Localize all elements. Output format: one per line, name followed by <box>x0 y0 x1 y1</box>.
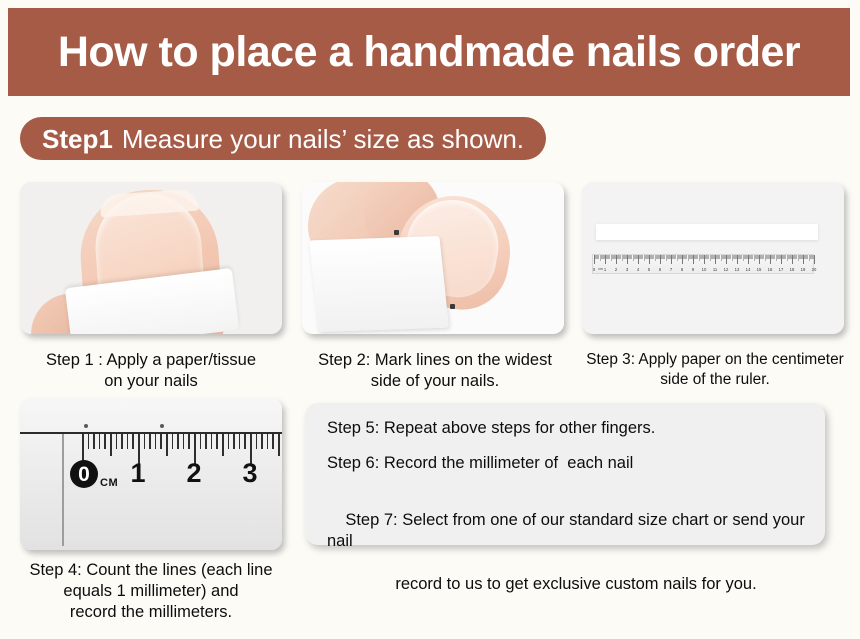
ruler-unit-label: cm <box>598 268 603 272</box>
caption-step-2-line-1: Step 2: Mark lines on the widest <box>296 350 574 371</box>
photo-card-mark-lines <box>302 182 564 334</box>
paper-on-ruler-image: 01234567891011121314151617181920cm <box>582 182 844 334</box>
caption-step-3-line-1: Step 3: Apply paper on the centimeter <box>576 350 854 370</box>
ruler-dot-left <box>84 424 88 428</box>
ruler-mm-tick <box>104 434 106 449</box>
ruler-number-2: 2 <box>615 268 617 272</box>
ruler-left-edge <box>62 434 64 546</box>
ruler-number-10: 10 <box>702 268 707 272</box>
ruler-mm-tick <box>200 434 202 449</box>
ruler-number-3: 3 <box>626 268 628 272</box>
step-7-line-2: record to us to get exclusive custom nai… <box>327 574 807 595</box>
ruler-mm-tick <box>177 434 179 449</box>
step1-pill-strong: Step1 <box>42 126 113 152</box>
caption-step-1: Step 1 : Apply a paper/tissue on your na… <box>12 350 290 392</box>
mark-point-bottom <box>450 304 455 309</box>
ruler-unit-label: CM <box>100 478 118 489</box>
paper-strip-shape <box>596 224 818 240</box>
step-5-text: Step 5: Repeat above steps for other fin… <box>327 419 807 439</box>
ruler-mm-tick <box>160 434 162 449</box>
ruler-number-16: 16 <box>768 268 773 272</box>
mark-point-top <box>394 230 399 235</box>
caption-step-1-line-2: on your nails <box>12 371 290 392</box>
caption-step-4: Step 4: Count the lines (each line equal… <box>12 560 290 623</box>
ruler-mm-tick <box>228 434 230 449</box>
photo-card-apply-tissue <box>20 182 282 334</box>
ruler-number-2: 2 <box>186 460 201 487</box>
step-7-line-1: Step 7: Select from one of our standard … <box>327 511 809 550</box>
fingers-holding-paper-image <box>302 182 564 334</box>
ruler-number-5: 5 <box>648 268 650 272</box>
ruler-mm-tick <box>239 434 241 449</box>
caption-step-3-line-2: side of the ruler. <box>576 370 854 390</box>
ruler-mm-tick <box>267 434 269 449</box>
ruler-number-15: 15 <box>757 268 762 272</box>
ruler-mm-tick <box>272 434 274 449</box>
steps-5-7-card: Step 5: Repeat above steps for other fin… <box>305 403 825 545</box>
ruler-zero-label: 0 <box>78 464 90 485</box>
ruler-number-12: 12 <box>724 268 729 272</box>
ruler-mm-tick <box>183 434 185 449</box>
ruler-mm-tick <box>99 434 101 449</box>
caption-step-3: Step 3: Apply paper on the centimeter si… <box>576 350 854 389</box>
ruler-mm-tick <box>222 434 224 456</box>
ruler-mm-tick <box>233 434 235 449</box>
step-6-text: Step 6: Record the millimeter of each na… <box>327 454 807 474</box>
step-7-text: Step 7: Select from one of our standard … <box>327 489 807 639</box>
ruler-mm-tick <box>155 434 157 449</box>
ruler-mm-tick <box>188 434 190 449</box>
ruler-number-19: 19 <box>801 268 806 272</box>
ruler-mm-tick <box>244 434 246 449</box>
ruler-mm-tick <box>127 434 129 449</box>
ruler-mm-tick <box>93 434 95 449</box>
ruler-mm-tick <box>256 434 258 449</box>
ruler-closeup-image: 0 CM 1 2 3 <box>20 398 282 550</box>
ruler-mm-tick <box>121 434 123 449</box>
ruler-zero-badge: 0 <box>70 460 98 488</box>
title-banner: How to place a handmade nails order <box>8 8 850 96</box>
caption-step-1-line-1: Step 1 : Apply a paper/tissue <box>12 350 290 371</box>
ruler-mm-tick <box>216 434 218 449</box>
finger-with-tissue-image <box>20 182 282 334</box>
ruler-mm-tick <box>172 434 174 449</box>
ruler-number-1: 1 <box>130 460 145 487</box>
ruler-mm-tick <box>278 434 280 456</box>
caption-step-2: Step 2: Mark lines on the widest side of… <box>296 350 574 392</box>
paper-strip-shape <box>309 236 449 332</box>
ruler-number-7: 7 <box>670 268 672 272</box>
ruler-mm-tick <box>205 434 207 449</box>
ruler-mm-tick <box>261 434 263 449</box>
page-title: How to place a handmade nails order <box>58 31 800 74</box>
photo-card-ruler-closeup: 0 CM 1 2 3 <box>20 398 282 550</box>
ruler-number-3: 3 <box>242 460 257 487</box>
caption-step-4-line-2: equals 1 millimeter) and <box>12 581 290 602</box>
ruler-mm-tick <box>144 434 146 449</box>
caption-step-4-line-3: record the millimeters. <box>12 602 290 623</box>
ruler-number-13: 13 <box>735 268 740 272</box>
full-ruler-shape: 01234567891011121314151617181920cm <box>592 254 814 274</box>
ruler-number-1: 1 <box>604 268 606 272</box>
caption-step-4-line-1: Step 4: Count the lines (each line <box>12 560 290 581</box>
ruler-number-17: 17 <box>779 268 784 272</box>
ruler-mm-tick <box>116 434 118 449</box>
ruler-tick <box>814 255 815 264</box>
ruler-number-0: 0 <box>593 268 595 272</box>
photo-card-paper-on-ruler: 01234567891011121314151617181920cm <box>582 182 844 334</box>
ruler-dot-right <box>160 424 164 428</box>
step1-pill: Step1 Measure your nails’ size as shown. <box>20 117 546 160</box>
ruler-mm-tick <box>88 434 90 449</box>
ruler-mm-tick <box>149 434 151 449</box>
ruler-top-edge <box>20 432 282 434</box>
ruler-number-18: 18 <box>790 268 795 272</box>
ruler-mm-tick <box>211 434 213 449</box>
ruler-number-9: 9 <box>692 268 694 272</box>
ruler-number-14: 14 <box>746 268 751 272</box>
ruler-mm-tick <box>166 434 168 456</box>
ruler-number-6: 6 <box>659 268 661 272</box>
ruler-number-4: 4 <box>637 268 639 272</box>
ruler-number-11: 11 <box>713 268 717 272</box>
ruler-mm-tick <box>132 434 134 449</box>
ruler-number-8: 8 <box>681 268 683 272</box>
ruler-number-20: 20 <box>812 268 817 272</box>
caption-step-2-line-2: side of your nails. <box>296 371 574 392</box>
step1-pill-text: Measure your nails’ size as shown. <box>122 126 524 152</box>
ruler-mm-tick <box>110 434 112 456</box>
